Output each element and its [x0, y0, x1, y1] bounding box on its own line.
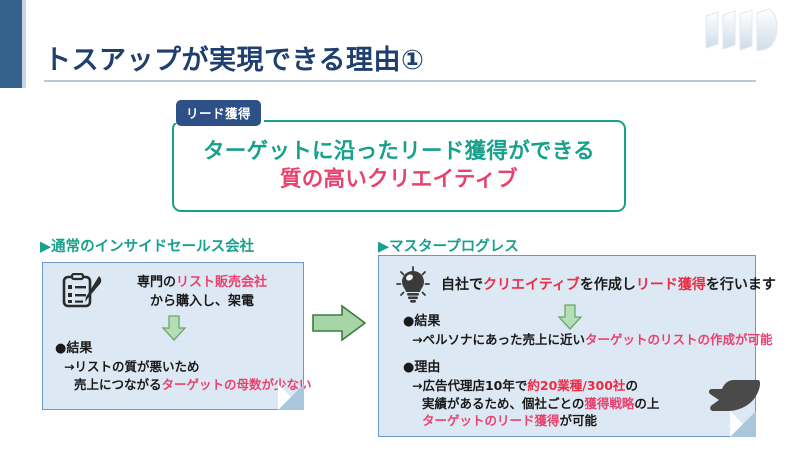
right-reason-2c: の上	[634, 396, 659, 411]
lightbulb-icon	[393, 264, 433, 304]
right-reason-3b: が可能	[560, 413, 598, 428]
right-result-line-a: →ペルソナにあった売上に近い	[412, 332, 585, 347]
right-reason-title: ●理由	[403, 360, 659, 377]
left-result-line-1: →リストの質が悪いため	[55, 358, 312, 376]
arrow-right-icon	[312, 303, 366, 343]
right-reason-line-3: ターゲットのリード獲得が可能	[403, 412, 659, 430]
arrow-down-icon	[161, 315, 187, 341]
right-reason-2b: 獲得戦略	[584, 396, 634, 411]
headline-text: ターゲットに沿ったリード獲得ができる 質の高いクリエイティブ	[172, 138, 626, 195]
right-top-b: クリエイティブ	[483, 277, 580, 293]
right-reason-1b: 約20業種/300社	[527, 378, 625, 393]
right-reason-1c: の	[625, 378, 638, 393]
right-column-heading: ▶マスタープログレス	[378, 235, 519, 256]
right-reason-line-2: 実績があるため、個社ごとの獲得戦略の上	[403, 395, 659, 413]
right-reason-3a: ターゲットのリード獲得	[422, 413, 560, 428]
headline-badge: リード獲得	[176, 100, 261, 126]
left-result-line-2: 売上につながるターゲットの母数が少ない	[55, 376, 312, 394]
left-panel: 専門のリスト販売会社 から購入し、架電 ●結果 →リストの質が悪いため 売上につ…	[42, 262, 304, 410]
right-reason-1a: →広告代理店10年で	[412, 378, 527, 393]
left-edge-bar	[0, 0, 22, 88]
headline-line-2: 質の高いクリエイティブ	[172, 166, 626, 194]
left-result-block: ●結果 →リストの質が悪いため 売上につながるターゲットの母数が少ない	[55, 341, 312, 393]
left-top-b: リスト販売会社	[176, 275, 267, 290]
slide-canvas: トスアップが実現できる理由① リード獲得 ターゲットに沿ったリード獲得ができる …	[0, 0, 800, 451]
left-result-line-2a: 売上につながる	[74, 377, 162, 392]
right-result-block: ●結果 →ペルソナにあった売上に近いターゲットのリストの作成が可能	[403, 314, 773, 349]
right-top-c: を作成し	[580, 277, 636, 293]
right-top-d: リード獲得	[636, 277, 706, 293]
right-result-line: →ペルソナにあった売上に近いターゲットのリストの作成が可能	[403, 331, 773, 349]
left-edge-bar-shadow	[22, 0, 26, 88]
right-reason-2a: 実績があるため、個社ごとの	[422, 396, 584, 411]
left-top-c: から購入し、架電	[150, 294, 254, 309]
clipboard-checklist-pen-icon	[61, 273, 105, 309]
right-top-e: を行います	[706, 277, 776, 293]
right-reason-block: ●理由 →広告代理店10年で約20業種/300社の 実績があるため、個社ごとの獲…	[403, 360, 659, 430]
right-result-line-b: ターゲットのリストの作成が可能	[585, 332, 773, 347]
right-panel: 自社でクリエイティブを作成しリード獲得を行います ●結果 →ペルソナにあった売上…	[378, 255, 756, 437]
left-top-text: 専門のリスト販売会社 から購入し、架電	[111, 274, 293, 312]
right-top-a: 自社で	[441, 277, 483, 293]
right-top-text: 自社でクリエイティブを作成しリード獲得を行います	[441, 274, 776, 294]
master-progress-logo-icon	[702, 8, 780, 52]
folded-corner	[278, 384, 304, 410]
left-result-title: ●結果	[55, 341, 312, 358]
left-top-a: 専門の	[137, 275, 176, 290]
page-title: トスアップが実現できる理由①	[44, 38, 424, 77]
left-column-heading: ▶通常のインサイドセールス会社	[40, 235, 254, 256]
right-reason-line-1: →広告代理店10年で約20業種/300社の	[403, 377, 659, 395]
title-underline	[44, 80, 756, 82]
pointing-hand-icon	[706, 375, 762, 421]
right-result-title: ●結果	[403, 314, 773, 331]
headline-line-1: ターゲットに沿ったリード獲得ができる	[172, 138, 626, 166]
